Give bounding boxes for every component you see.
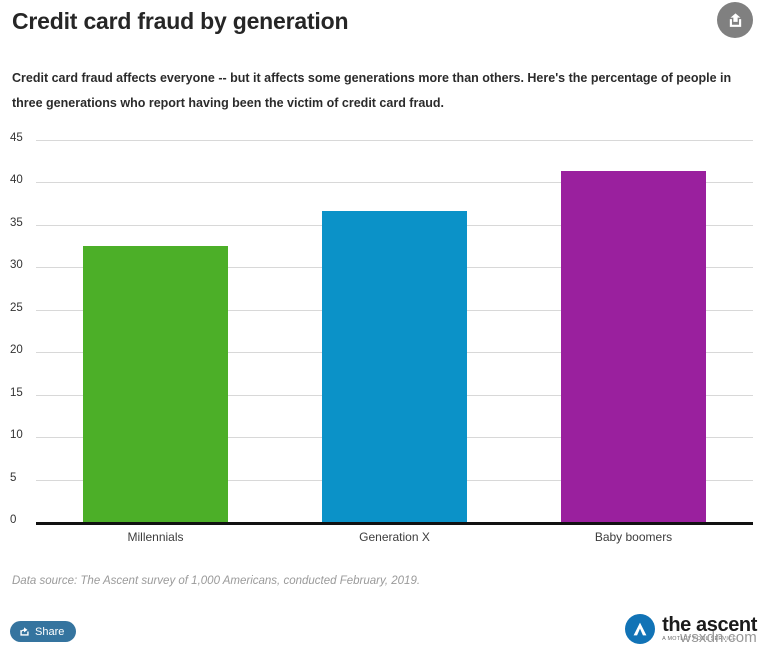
x-axis-tick-labels: MillennialsGeneration XBaby boomers (0, 528, 771, 552)
chart-plot-area: 051015202530354045 MillennialsGeneration… (0, 140, 771, 540)
share-circle-button[interactable] (717, 2, 753, 38)
plot-inner: 051015202530354045 MillennialsGeneration… (0, 140, 771, 540)
x-axis-label: Generation X (275, 528, 514, 546)
source-note: Data source: The Ascent survey of 1,000 … (12, 573, 420, 589)
bar-generation-x[interactable] (322, 211, 467, 522)
x-axis-label: Baby boomers (514, 528, 753, 546)
watermark: wsxdn.com (680, 629, 757, 646)
chart-subtitle: Credit card fraud affects everyone -- bu… (12, 66, 742, 116)
chart-page: Credit card fraud by generation Credit c… (0, 0, 771, 649)
share-icon (19, 626, 30, 637)
bar-millennials[interactable] (83, 246, 228, 522)
page-title: Credit card fraud by generation (12, 6, 348, 36)
ascent-mark-icon (625, 614, 655, 644)
x-axis-line (36, 522, 753, 525)
share-button[interactable]: Share (10, 621, 76, 642)
share-icon (727, 12, 744, 29)
bar-baby-boomers[interactable] (561, 171, 706, 522)
bars-group (0, 140, 771, 522)
share-button-label: Share (35, 626, 64, 638)
x-axis-label: Millennials (36, 528, 275, 546)
